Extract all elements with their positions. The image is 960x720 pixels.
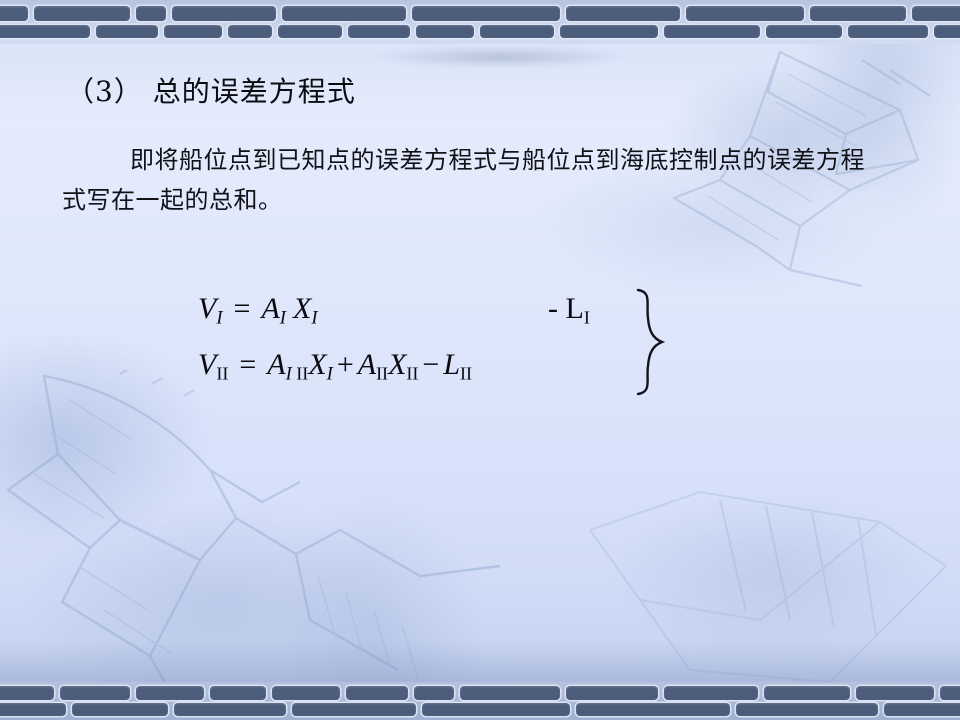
- top-brick-row-2: [0, 25, 960, 38]
- watermark-dark-streak: [330, 40, 670, 74]
- equation-system-brace: [632, 286, 666, 398]
- equation-2-expression: VII=AI IIXI+AIIXII−LII: [198, 348, 472, 386]
- bottom-brick-border: [0, 682, 960, 720]
- watermark-bottom-right-blob: [540, 430, 960, 720]
- watermark-great-wall-bottom-right: [580, 470, 950, 690]
- top-brick-border: [0, 0, 960, 44]
- bottom-brick-row-1: [0, 686, 960, 700]
- equation-1-constant: - LI: [548, 292, 590, 328]
- body-paragraph: 即将船位点到已知点的误差方程式与船位点到海底控制点的误差方程式写在一起的总和。: [62, 140, 872, 220]
- equation-1-expression: VI=AIXI: [198, 292, 318, 330]
- bottom-brick-row-2: [0, 703, 960, 716]
- top-brick-row-1: [0, 6, 960, 21]
- slide-canvas: （3） 总的误差方程式 即将船位点到已知点的误差方程式与船位点到海底控制点的误差…: [0, 0, 960, 720]
- page-title: （3） 总的误差方程式: [66, 70, 356, 110]
- watermark-great-wall-bottom-left: [0, 370, 520, 700]
